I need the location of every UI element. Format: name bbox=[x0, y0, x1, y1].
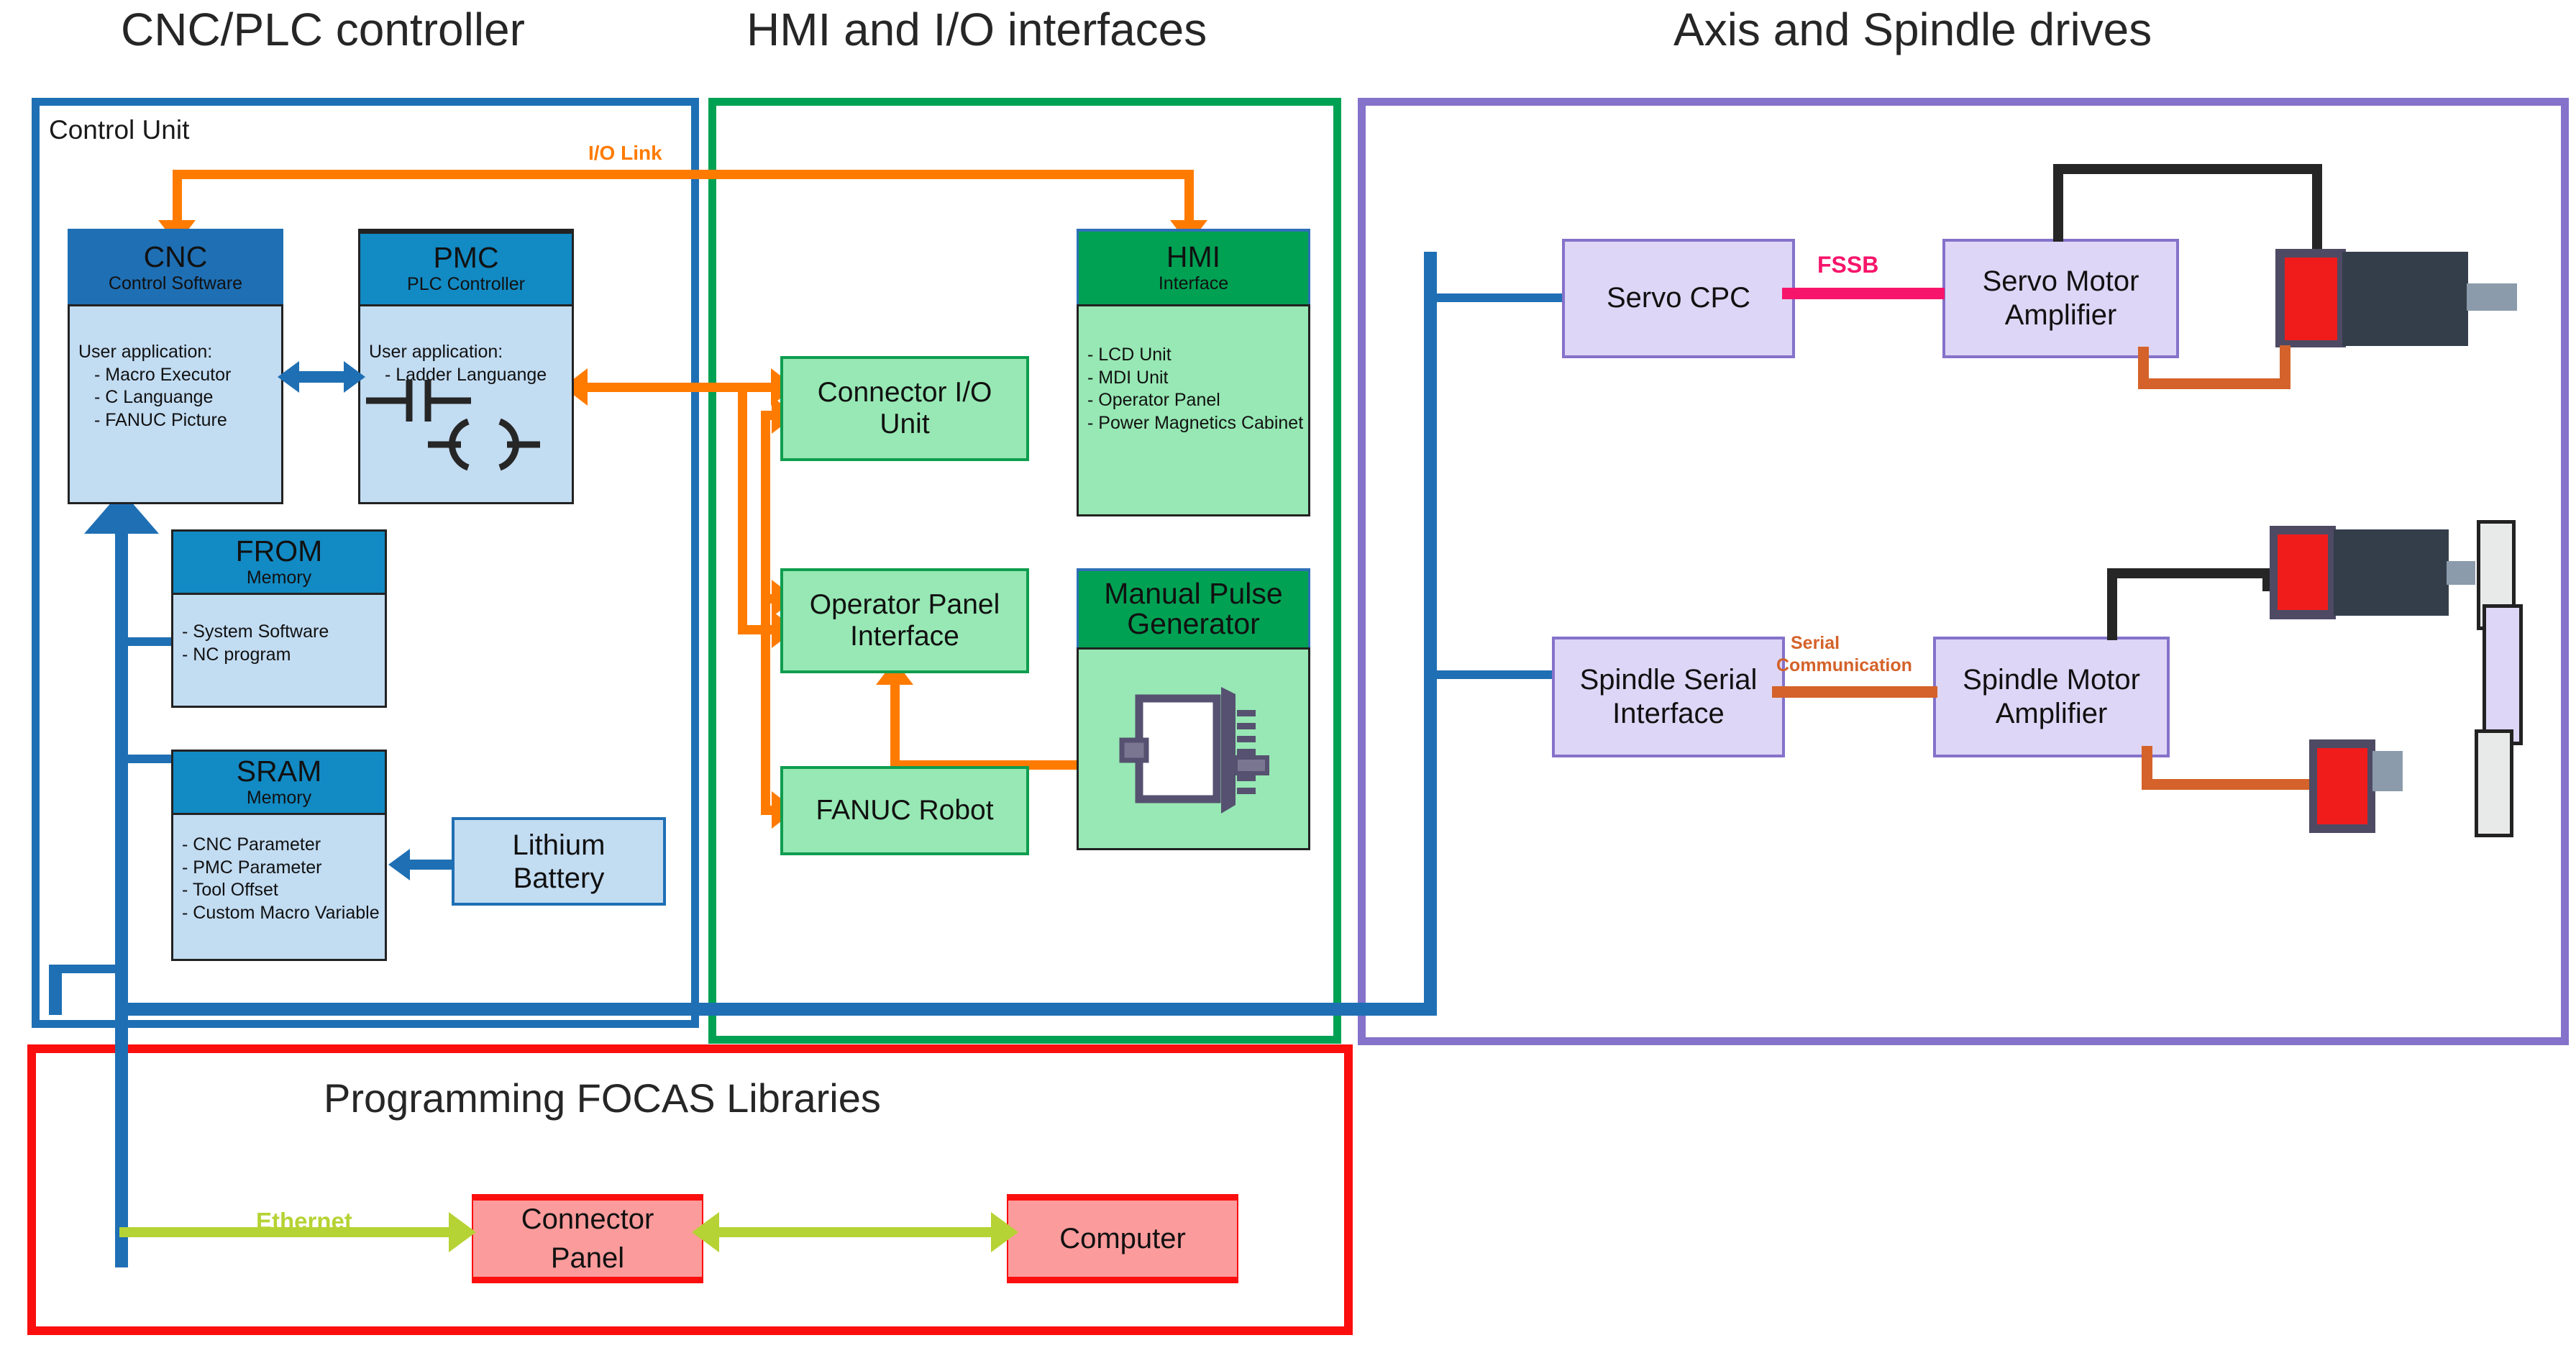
box-computer[interactable]: Computer bbox=[1007, 1194, 1238, 1283]
box-pmc[interactable]: PMC PLC Controller User application: - L… bbox=[358, 229, 574, 504]
connector-io-unit-line1: Connector I/O bbox=[818, 377, 992, 408]
box-manual-pulse-generator[interactable]: Manual Pulse Generator bbox=[1077, 568, 1310, 850]
ethernet-line-left bbox=[119, 1227, 455, 1237]
spindle-amp-label: Spindle Motor Amplifier bbox=[1963, 663, 2140, 731]
fanuc-robot-label: FANUC Robot bbox=[816, 795, 993, 826]
servo-cpc-label: Servo CPC bbox=[1607, 281, 1750, 315]
box-from-line-0: - System Software bbox=[182, 621, 376, 644]
box-sram-line-1: - PMC Parameter bbox=[182, 857, 376, 880]
box-hmi-body: - LCD Unit - MDI Unit - Operator Panel -… bbox=[1077, 304, 1310, 516]
spindle-motor-1-red bbox=[2278, 534, 2328, 610]
box-hmi-line-3: - Power Magnetics Cabinet bbox=[1087, 412, 1300, 435]
box-mpg-header: Manual Pulse Generator bbox=[1077, 568, 1310, 647]
box-pmc-header: PMC PLC Controller bbox=[358, 229, 574, 304]
servo-motor-1-red bbox=[2285, 258, 2337, 340]
orange-branch-a-vertical bbox=[761, 411, 770, 815]
servo-amp-to-motor-top-v2 bbox=[2312, 164, 2322, 250]
cnc-pmc-arrow-right bbox=[344, 361, 365, 393]
box-connector-panel[interactable]: Connector Panel bbox=[472, 1194, 703, 1283]
cnc-pmc-arrow-left bbox=[278, 361, 299, 393]
box-connector-io-unit[interactable]: Connector I/O Unit bbox=[780, 356, 1029, 461]
battery-to-sram-line bbox=[410, 860, 453, 870]
box-from-header: FROM Memory bbox=[171, 529, 387, 593]
box-sram-line-0: - CNC Parameter bbox=[182, 834, 376, 857]
section-title-axis-spindle: Axis and Spindle drives bbox=[1673, 3, 2152, 56]
ethernet-arrow-to-connector-panel bbox=[449, 1212, 476, 1252]
servo-amp-to-motor-bottom-v-left bbox=[2138, 347, 2149, 384]
cnc-pmc-link-line bbox=[298, 371, 345, 383]
ladder-coil-icon bbox=[426, 416, 542, 473]
spindle-amp-line2: Amplifier bbox=[1996, 698, 2108, 729]
battery-line2: Battery bbox=[513, 862, 605, 894]
ethernet-line-right bbox=[718, 1227, 998, 1237]
box-cnc-line-0: User application: bbox=[78, 341, 273, 364]
box-cnc-subtitle: Control Software bbox=[109, 274, 242, 294]
computer-line1: Computer bbox=[1059, 1223, 1186, 1254]
connector-io-unit-line2: Unit bbox=[880, 409, 929, 440]
box-hmi[interactable]: HMI Interface - LCD Unit - MDI Unit - Op… bbox=[1077, 229, 1310, 516]
operator-panel-line1: Operator Panel bbox=[810, 589, 1000, 620]
operator-panel-line2: Interface bbox=[850, 621, 959, 652]
servo-amp-to-motor-bottom-v-right bbox=[2280, 345, 2290, 383]
box-cnc-line-1: - Macro Executor bbox=[78, 364, 273, 387]
serial-communication-label-line1: Serial bbox=[1791, 633, 1840, 654]
box-cnc[interactable]: CNC Control Software User application: -… bbox=[68, 229, 283, 504]
box-operator-panel-interface[interactable]: Operator Panel Interface bbox=[780, 568, 1029, 673]
spindle-motor-2-shaft bbox=[2372, 751, 2403, 791]
box-mpg-title-line1: Manual Pulse bbox=[1104, 579, 1282, 609]
battery-label: Lithium Battery bbox=[513, 829, 606, 895]
blue-bus-branch-servo-cpc bbox=[1424, 293, 1568, 302]
box-hmi-header: HMI Interface bbox=[1077, 229, 1310, 304]
box-sram-line-2: - Tool Offset bbox=[182, 879, 376, 902]
spindle-motor-1-shaft bbox=[2447, 561, 2475, 585]
spindle-if-line1: Spindle Serial bbox=[1580, 664, 1758, 696]
ethernet-arrow-to-computer bbox=[991, 1212, 1018, 1252]
handwheel-icon bbox=[1115, 677, 1273, 821]
box-from-subtitle: Memory bbox=[247, 568, 311, 588]
box-sram-subtitle: Memory bbox=[247, 788, 311, 809]
spindle-amp-to-motor-top-v1 bbox=[2107, 568, 2117, 640]
box-cnc-header: CNC Control Software bbox=[68, 229, 283, 304]
mpg-to-operator-vertical bbox=[890, 682, 900, 765]
box-hmi-title: HMI bbox=[1166, 242, 1220, 273]
box-sram[interactable]: SRAM Memory - CNC Parameter - PMC Parame… bbox=[171, 750, 387, 961]
blue-bus-horizontal-to-drives bbox=[115, 1003, 1437, 1016]
servo-amp-line1: Servo Motor bbox=[1983, 265, 2139, 297]
box-pmc-subtitle: PLC Controller bbox=[407, 275, 525, 295]
pmc-connector-io-line bbox=[584, 383, 777, 392]
orange-branch-b-vertical bbox=[738, 383, 747, 634]
box-mpg-body bbox=[1077, 647, 1310, 850]
box-spindle-motor-amplifier[interactable]: Spindle Motor Amplifier bbox=[1933, 637, 2170, 757]
box-servo-cpc[interactable]: Servo CPC bbox=[1562, 239, 1795, 358]
box-sram-title: SRAM bbox=[237, 757, 321, 787]
box-cnc-line-3: - FANUC Picture bbox=[78, 409, 273, 432]
box-from-title: FROM bbox=[236, 537, 323, 567]
spindle-amp-to-motor2-v bbox=[2142, 746, 2152, 785]
connector-io-unit-label: Connector I/O Unit bbox=[818, 377, 992, 440]
box-hmi-subtitle: Interface bbox=[1159, 274, 1228, 294]
box-lithium-battery[interactable]: Lithium Battery bbox=[452, 817, 666, 906]
spindle-amp-line1: Spindle Motor bbox=[1963, 664, 2140, 696]
servo-amp-line2: Amplifier bbox=[2005, 299, 2117, 331]
fssb-label: FSSB bbox=[1817, 252, 1878, 278]
box-from[interactable]: FROM Memory - System Software - NC progr… bbox=[171, 529, 387, 708]
section-title-cnc-plc: CNC/PLC controller bbox=[121, 3, 525, 56]
box-servo-motor-amplifier[interactable]: Servo Motor Amplifier bbox=[1942, 239, 2179, 358]
servo-amp-to-motor-top-v1 bbox=[2053, 164, 2063, 242]
box-cnc-line-2: - C Languange bbox=[78, 386, 273, 409]
blue-bus-branch-spindle-if bbox=[1424, 670, 1553, 679]
connector-panel-label: Connector Panel bbox=[521, 1200, 654, 1278]
servo-cpc-line1: Servo CPC bbox=[1607, 282, 1750, 314]
box-spindle-serial-interface[interactable]: Spindle Serial Interface bbox=[1552, 637, 1785, 757]
servo-amp-to-motor-bottom-h bbox=[2138, 378, 2290, 389]
spindle-amp-to-motor2-h bbox=[2142, 779, 2313, 790]
box-sram-line-3: - Custom Macro Variable bbox=[182, 902, 376, 925]
ethernet-arrow-to-connector-panel-2 bbox=[692, 1212, 719, 1252]
box-fanuc-robot[interactable]: FANUC Robot bbox=[780, 766, 1029, 855]
servo-motor-1-shaft bbox=[2467, 283, 2517, 311]
fssb-line bbox=[1782, 288, 1945, 299]
spindle-motor-1-body bbox=[2334, 529, 2449, 616]
control-unit-label: Control Unit bbox=[49, 115, 189, 145]
spindle-load-lilac bbox=[2483, 604, 2523, 745]
box-cnc-title: CNC bbox=[144, 242, 208, 273]
box-sram-header: SRAM Memory bbox=[171, 750, 387, 813]
serial-communication-label-line2: Communication bbox=[1776, 655, 1912, 676]
blue-bus-vertical-drives bbox=[1424, 252, 1437, 1016]
box-pmc-title: PMC bbox=[433, 243, 498, 273]
blue-bus-left-stub-h bbox=[49, 965, 128, 973]
battery-line1: Lithium bbox=[513, 829, 606, 861]
spindle-if-label: Spindle Serial Interface bbox=[1580, 663, 1758, 731]
spindle-load-grey-bottom bbox=[2475, 729, 2513, 837]
spindle-if-line2: Interface bbox=[1612, 698, 1725, 729]
box-pmc-body: User application: - Ladder Languange bbox=[358, 304, 574, 504]
fanuc-robot-line1: FANUC Robot bbox=[816, 795, 993, 826]
connector-panel-line1: Connector bbox=[521, 1203, 654, 1235]
box-cnc-body: User application: - Macro Executor - C L… bbox=[68, 304, 283, 504]
box-hmi-line-1: - MDI Unit bbox=[1087, 367, 1300, 390]
focas-panel-title: Programming FOCAS Libraries bbox=[324, 1075, 881, 1121]
box-from-line-1: - NC program bbox=[182, 644, 376, 667]
box-sram-body: - CNC Parameter - PMC Parameter - Tool O… bbox=[171, 813, 387, 961]
blue-bus-branch-from bbox=[115, 637, 174, 646]
blue-bus-branch-sram bbox=[115, 755, 174, 763]
operator-panel-interface-label: Operator Panel Interface bbox=[810, 589, 1000, 652]
serial-communication-line bbox=[1772, 686, 1937, 698]
connector-panel-line2: Panel bbox=[551, 1242, 624, 1274]
spindle-motor-2-red bbox=[2317, 748, 2367, 824]
servo-amp-to-motor-top-h bbox=[2053, 164, 2322, 174]
box-from-body: - System Software - NC program bbox=[171, 593, 387, 708]
box-mpg-title-line2: Generator bbox=[1127, 609, 1260, 639]
io-link-label: I/O Link bbox=[588, 142, 662, 165]
section-title-hmi-io: HMI and I/O interfaces bbox=[746, 3, 1207, 56]
box-hmi-line-2: - Operator Panel bbox=[1087, 389, 1300, 412]
spindle-amp-to-motor-top-h bbox=[2107, 568, 2273, 578]
box-hmi-line-0: - LCD Unit bbox=[1087, 344, 1300, 367]
computer-label: Computer bbox=[1059, 1219, 1186, 1258]
box-pmc-line-0: User application: bbox=[369, 341, 563, 364]
servo-motor-1-body bbox=[2342, 252, 2468, 346]
servo-amp-label: Servo Motor Amplifier bbox=[1983, 265, 2139, 332]
io-link-horizontal bbox=[173, 170, 1194, 179]
battery-to-sram-arrow bbox=[388, 849, 410, 880]
